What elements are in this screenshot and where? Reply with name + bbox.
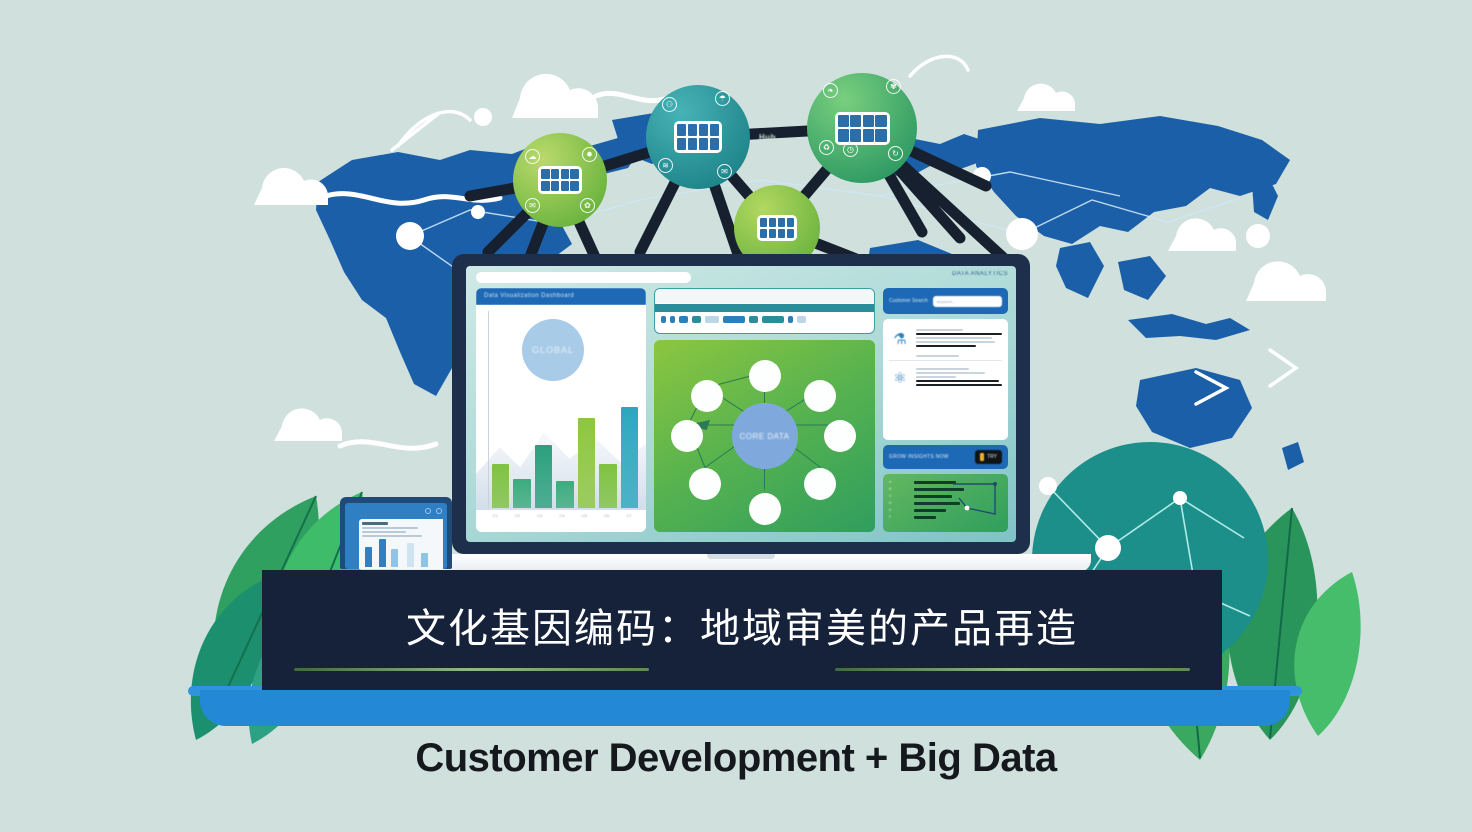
chart-x-tick: C3: [537, 513, 542, 518]
toolbar-grid-icon[interactable]: [679, 316, 688, 323]
chart-x-tick: C7: [626, 513, 631, 518]
chart-x-tick: C4: [559, 513, 564, 518]
chat-mini-icon: ✉: [525, 198, 540, 213]
chart-plot-area: GLOBAL C1C2C3C4C5C6C7: [476, 305, 646, 532]
clock-mini-icon: ◷: [843, 142, 858, 157]
toolbar-chart-icon[interactable]: [692, 316, 701, 323]
user-network-icon: ⚛: [889, 368, 911, 390]
network-node: [804, 380, 836, 412]
dashboard-panels: Data Visualization Dashboard GLOBAL C1C2…: [476, 288, 1008, 532]
toolbar-filter-icon[interactable]: [661, 316, 666, 323]
toolbar-controls[interactable]: [655, 312, 874, 327]
gear-mini-icon: ✿: [580, 198, 595, 213]
chart-bar: [492, 464, 509, 508]
chart-panel-header: Data Visualization Dashboard: [476, 288, 646, 305]
brain-mini-icon: ✹: [582, 147, 597, 162]
chart-x-tick: C2: [515, 513, 520, 518]
page-title: 文化基因编码：地域审美的产品再造: [262, 596, 1222, 654]
panel-bar-chart: Data Visualization Dashboard GLOBAL C1C2…: [476, 288, 646, 532]
chip-icon: [835, 112, 890, 145]
tablet-device[interactable]: [340, 497, 452, 569]
cta-banner[interactable]: GROW INSIGHTS NOW TRY: [883, 445, 1008, 469]
lamp-mini-icon: ☂: [715, 91, 730, 106]
leaf-mini-icon: ❧: [823, 83, 838, 98]
cta-label: GROW INSIGHTS NOW: [889, 454, 949, 460]
sphere-green-right: ❧ ✾ ♻ ◷ ↻: [807, 73, 917, 183]
chart-bar: [535, 445, 552, 508]
signal-mini-icon: ≋: [658, 158, 673, 173]
toolbar-divider-icon: [788, 316, 793, 323]
globe-badge-icon: GLOBAL: [522, 319, 584, 381]
title-banner: 文化基因编码：地域审美的产品再造: [262, 570, 1222, 690]
chart-x-tick: C6: [604, 513, 609, 518]
list-item[interactable]: ⚗: [889, 325, 1002, 355]
network-node: [824, 420, 856, 452]
toolbar-accent-bar: [655, 304, 874, 312]
cta-button[interactable]: TRY: [975, 450, 1002, 464]
banner-rule-left: [294, 668, 649, 671]
toolbar-menu-icon[interactable]: [670, 316, 675, 323]
laptop-device[interactable]: DATA ANALYTICS Data Visualization Dashbo…: [452, 254, 1030, 572]
toolbar-export-icon[interactable]: [797, 316, 806, 323]
chip-icon: [674, 121, 722, 152]
toolbar-segment-bar[interactable]: [723, 316, 745, 323]
network-hub: CORE DATA: [732, 403, 798, 469]
tablet-nav-icon: [425, 508, 431, 514]
segment-mini-chart: A B C D E F: [883, 474, 1008, 532]
tablet-refresh-icon: [436, 508, 442, 514]
sphere-teal-center: ⚇ ☂ ≋ ✉ Hub: [646, 85, 750, 189]
chart-x-axis: C1C2C3C4C5C6C7: [484, 513, 640, 518]
customer-search-input[interactable]: keyword...: [933, 296, 1002, 307]
network-hub-label: CORE DATA: [740, 432, 790, 441]
cloud-mini-icon: ☁: [525, 149, 540, 164]
network-node: [804, 468, 836, 500]
cta-button-label: TRY: [987, 454, 997, 460]
chart-bar: [513, 479, 530, 508]
caption-text: Customer Development + Big Data: [0, 736, 1472, 781]
chart-x-tick: C1: [493, 513, 498, 518]
network-node: [689, 468, 721, 500]
dashboard-toolbar[interactable]: [654, 288, 875, 334]
chart-bar: [556, 481, 573, 509]
recycle-mini-icon: ♻: [819, 140, 834, 155]
banner-rule-right: [835, 668, 1190, 671]
illustration-canvas: ☁ ✹ ✉ ✿ ⚇ ☂ ≋ ✉ Hub ❧ ✾ ♻ ◷ ↻: [0, 0, 1472, 832]
mini-chart-line: [883, 474, 1008, 532]
customer-result-list: ⚗: [883, 319, 1008, 440]
laptop-screen: DATA ANALYTICS Data Visualization Dashbo…: [466, 266, 1016, 542]
sphere-green-left: ☁ ✹ ✉ ✿: [513, 133, 607, 227]
screen-search-pill[interactable]: [476, 272, 691, 283]
toolbar-range-bar[interactable]: [762, 316, 784, 323]
tablet-dashboard-card: [359, 519, 443, 569]
user-group-icon: ⚗: [889, 329, 911, 351]
refresh-mini-icon: ↻: [888, 146, 903, 161]
chart-y-axis: [488, 311, 489, 508]
toolbar-label-chip: [705, 316, 719, 323]
laptop-lid: DATA ANALYTICS Data Visualization Dashbo…: [452, 254, 1030, 554]
desk-platform: [200, 690, 1290, 726]
amber-indicator-icon: [980, 453, 984, 461]
chart-bar: [599, 464, 616, 508]
chip-icon: [538, 166, 581, 194]
sphere-tag-label: Hub: [759, 133, 776, 142]
chart-bar: [578, 418, 595, 508]
globe-badge-label: GLOBAL: [532, 345, 574, 355]
toolbar-top-strip: [655, 289, 874, 303]
data-mini-icon: ⚇: [662, 97, 677, 112]
toolbar-range-start[interactable]: [749, 316, 758, 323]
sprout-mini-icon: ✾: [886, 79, 901, 94]
network-diagram: CORE DATA: [654, 340, 875, 532]
customer-search-bar[interactable]: Customer Search keyword...: [883, 288, 1008, 314]
chart-bars: [492, 398, 638, 508]
laptop-base-notch: [707, 554, 775, 559]
tablet-screen: [345, 503, 447, 569]
customer-search-label: Customer Search: [889, 298, 928, 304]
mail-mini-icon: ✉: [717, 164, 732, 179]
chart-bar: [621, 407, 638, 508]
network-node: [671, 420, 703, 452]
panel-sidebar: Customer Search keyword... ⚗: [883, 288, 1008, 532]
network-node: [749, 493, 781, 525]
panel-network: CORE DATA: [654, 288, 875, 532]
chip-icon: [757, 215, 797, 241]
network-node: [749, 360, 781, 392]
chart-x-tick: C5: [582, 513, 587, 518]
list-item[interactable]: ⚛: [889, 364, 1002, 394]
network-node: [691, 380, 723, 412]
list-divider: [889, 360, 1002, 361]
screen-corner-label: DATA ANALYTICS: [952, 271, 1008, 277]
